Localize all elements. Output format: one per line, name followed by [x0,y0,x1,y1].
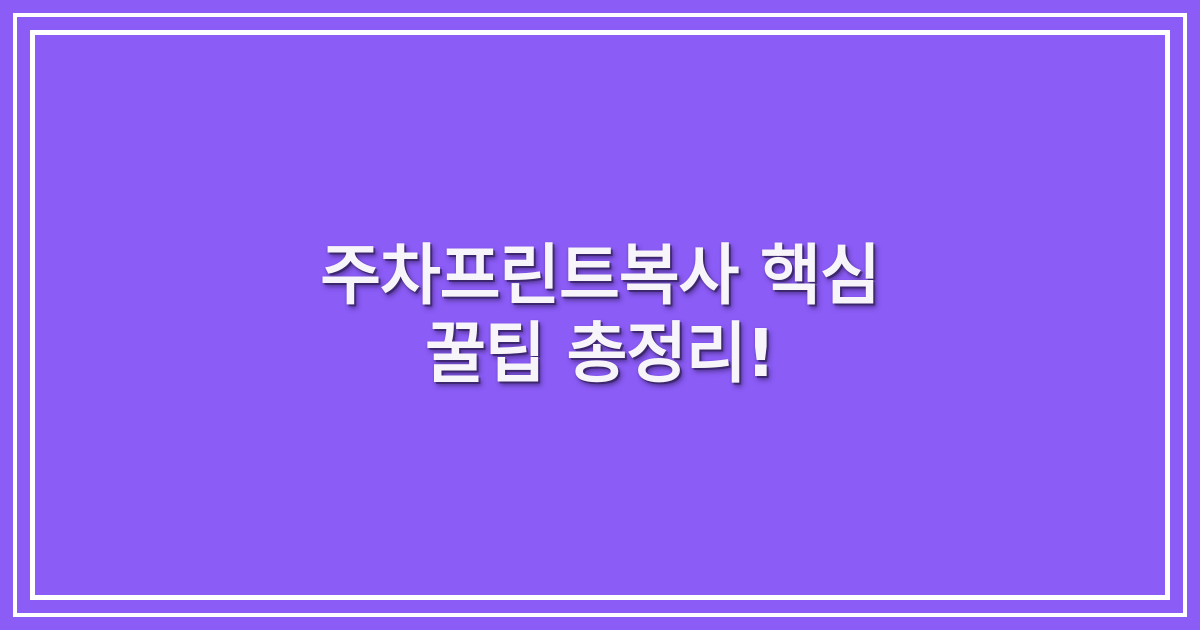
banner-title-line-1: 주차프린트복사 핵심 [70,237,1130,315]
promo-banner: 주차프린트복사 핵심 꿀팁 총정리! [0,0,1200,630]
banner-title-block: 주차프린트복사 핵심 꿀팁 총정리! [0,237,1200,393]
banner-title-line-2: 꿀팁 총정리! [70,315,1130,393]
